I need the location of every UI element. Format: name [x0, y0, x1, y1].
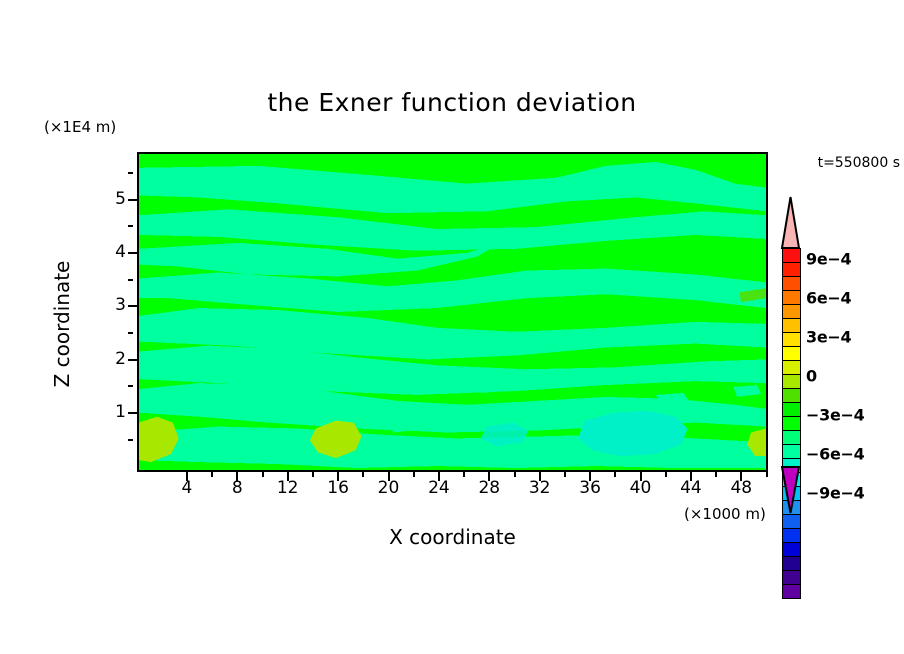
- y-axis-tick-labels: 1 2 3 4 5: [98, 0, 126, 654]
- colorbar-band: [783, 389, 800, 403]
- colorbar: [778, 196, 802, 514]
- colorbar-band: [783, 529, 800, 543]
- x-axis-unit-label: (×1000 m): [684, 505, 766, 523]
- colorbar-band: [783, 571, 800, 585]
- colorbar-tick-label: −3e−4: [806, 406, 864, 425]
- time-annotation: t=550800 s: [818, 155, 900, 171]
- colorbar-band: [783, 515, 800, 529]
- x-tick-label: 40: [630, 478, 652, 498]
- x-tick-label: 12: [277, 478, 299, 498]
- colorbar-band: [783, 431, 800, 445]
- colorbar-tick-label: 9e−4: [806, 250, 851, 269]
- colorbar-band: [783, 403, 800, 417]
- x-tick-label: 24: [428, 478, 450, 498]
- page-title: the Exner function deviation: [0, 88, 904, 117]
- colorbar-band: [783, 333, 800, 347]
- contour-field: [139, 154, 766, 470]
- colorbar-band: [783, 445, 800, 459]
- colorbar-band: [783, 277, 800, 291]
- x-axis-title: X coordinate: [137, 525, 768, 549]
- colorbar-under-arrow: [778, 466, 803, 514]
- x-tick-label: 8: [232, 478, 243, 498]
- y-tick-label: 1: [98, 402, 126, 422]
- colorbar-band: [783, 375, 800, 389]
- x-tick-label: 28: [478, 478, 500, 498]
- colorbar-band: [783, 249, 800, 263]
- colorbar-band: [783, 263, 800, 277]
- x-tick-label: 4: [181, 478, 192, 498]
- colorbar-band: [783, 291, 800, 305]
- x-tick-label: 36: [579, 478, 601, 498]
- contour-plot-area: [137, 152, 768, 472]
- y-tick-label: 5: [98, 189, 126, 209]
- colorbar-band: [783, 585, 800, 598]
- x-tick-label: 32: [529, 478, 551, 498]
- colorbar-band: [783, 417, 800, 431]
- y-tick-label: 3: [98, 295, 126, 315]
- colorbar-tick-label: 3e−4: [806, 328, 851, 347]
- colorbar-tick-label: 6e−4: [806, 289, 851, 308]
- colorbar-tick-label: −9e−4: [806, 484, 864, 503]
- colorbar-over-arrow: [778, 196, 803, 249]
- colorbar-bands: [782, 248, 801, 599]
- colorbar-band: [783, 347, 800, 361]
- colorbar-band: [783, 305, 800, 319]
- y-tick-label: 4: [98, 242, 126, 262]
- colorbar-tick-label: −6e−4: [806, 445, 864, 464]
- x-tick-label: 44: [680, 478, 702, 498]
- colorbar-band: [783, 319, 800, 333]
- figure-canvas: the Exner function deviation (×1E4 m): [0, 0, 904, 654]
- colorbar-band: [783, 361, 800, 375]
- y-tick-label: 2: [98, 349, 126, 369]
- y-axis-ticks: [128, 152, 140, 472]
- colorbar-tick-label: 0: [806, 367, 817, 386]
- colorbar-band: [783, 557, 800, 571]
- x-tick-label: 16: [327, 478, 349, 498]
- colorbar-band: [783, 543, 800, 557]
- x-tick-label: 48: [730, 478, 752, 498]
- y-axis-title: Z coordinate: [50, 224, 74, 424]
- x-tick-label: 20: [378, 478, 400, 498]
